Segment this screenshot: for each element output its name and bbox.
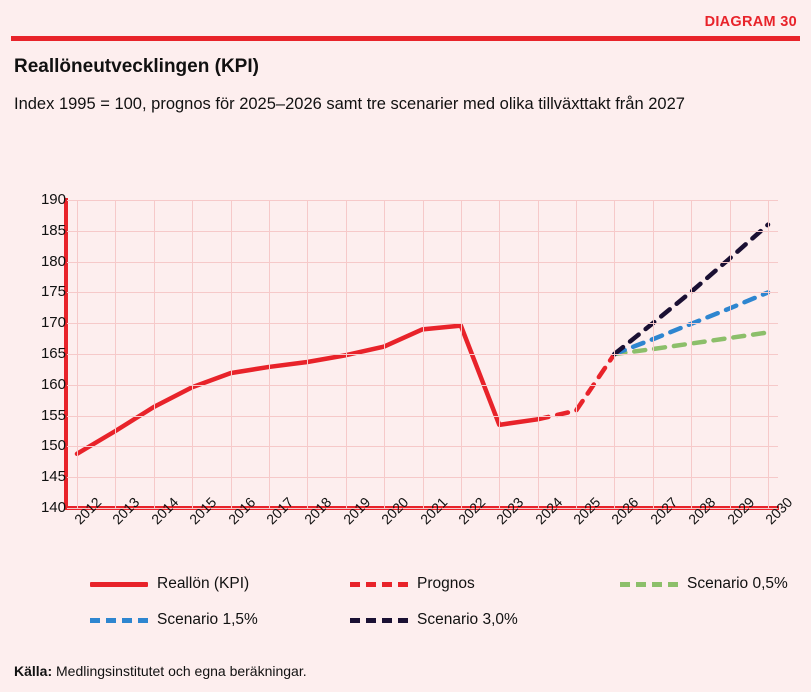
legend-swatch xyxy=(620,582,678,587)
gridline-vertical xyxy=(461,200,462,508)
legend-item[interactable]: Prognos xyxy=(350,575,475,593)
y-axis-tick-label: 140 xyxy=(6,499,66,516)
y-axis-tick-label: 165 xyxy=(6,345,66,362)
legend-item[interactable]: Scenario 1,5% xyxy=(90,611,258,629)
source-text: Medlingsinstitutet och egna beräkningar. xyxy=(56,663,307,679)
chart-legend: Reallön (KPI)PrognosScenario 0,5%Scenari… xyxy=(0,575,811,635)
plot-canvas xyxy=(67,200,778,508)
chart-area: 140145150155160165170175180185190 xyxy=(0,180,811,520)
gridline-vertical xyxy=(115,200,116,508)
gridline-vertical xyxy=(154,200,155,508)
source-note: Källa: Medlingsinstitutet och egna beräk… xyxy=(14,663,307,679)
legend-swatch xyxy=(350,582,408,587)
gridline-vertical xyxy=(423,200,424,508)
header-divider xyxy=(11,36,800,41)
legend-label: Scenario 1,5% xyxy=(157,611,258,629)
y-axis-tick-label: 180 xyxy=(6,253,66,270)
page-title: Reallöneutvecklingen (KPI) xyxy=(14,56,259,78)
gridline-vertical xyxy=(231,200,232,508)
legend-swatch xyxy=(90,618,148,623)
legend-item[interactable]: Scenario 0,5% xyxy=(620,575,788,593)
legend-label: Reallön (KPI) xyxy=(157,575,249,593)
gridline-vertical xyxy=(384,200,385,508)
gridline-vertical xyxy=(538,200,539,508)
source-label: Källa: xyxy=(14,663,52,679)
legend-label: Scenario 3,0% xyxy=(417,611,518,629)
legend-swatch xyxy=(90,582,148,587)
gridline-vertical xyxy=(691,200,692,508)
gridline-vertical xyxy=(307,200,308,508)
gridline-vertical xyxy=(346,200,347,508)
gridline-vertical xyxy=(614,200,615,508)
page-subtitle: Index 1995 = 100, prognos för 2025–2026 … xyxy=(14,92,774,118)
y-axis-tick-label: 190 xyxy=(6,191,66,208)
legend-label: Scenario 0,5% xyxy=(687,575,788,593)
legend-label: Prognos xyxy=(417,575,475,593)
gridline-vertical xyxy=(192,200,193,508)
gridline-vertical xyxy=(768,200,769,508)
y-axis-tick-label: 175 xyxy=(6,283,66,300)
y-axis-tick-label: 145 xyxy=(6,468,66,485)
gridline-vertical xyxy=(269,200,270,508)
y-axis-tick-label: 155 xyxy=(6,407,66,424)
y-axis-tick-label: 170 xyxy=(6,314,66,331)
gridline-vertical xyxy=(653,200,654,508)
gridline-vertical xyxy=(77,200,78,508)
diagram-number-label: DIAGRAM 30 xyxy=(705,14,797,30)
x-axis-ticks: 2012201320142015201620172018201920202021… xyxy=(67,516,778,576)
y-axis-tick-label: 185 xyxy=(6,222,66,239)
legend-item[interactable]: Scenario 3,0% xyxy=(350,611,518,629)
gridline-vertical xyxy=(730,200,731,508)
legend-swatch xyxy=(350,618,408,623)
gridline-vertical xyxy=(499,200,500,508)
y-axis-tick-label: 150 xyxy=(6,437,66,454)
gridline-vertical xyxy=(576,200,577,508)
y-axis-tick-label: 160 xyxy=(6,376,66,393)
legend-item[interactable]: Reallön (KPI) xyxy=(90,575,249,593)
